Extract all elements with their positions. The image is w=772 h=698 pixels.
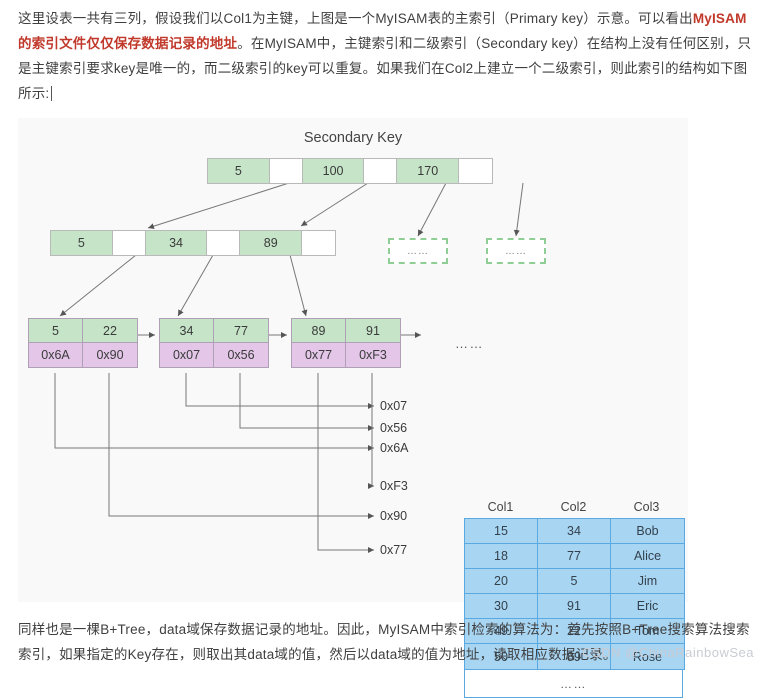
btree-leaf-node: 89 91 0x77 0xF3 <box>291 318 401 368</box>
leaf-data-row: 0x77 0xF3 <box>292 343 400 367</box>
paragraph-segment-1: 这里设表一共有三列，假设我们以Col1为主键，上图是一个MyISAM表的主索引（… <box>18 11 693 26</box>
btree-leaf-node: 5 22 0x6A 0x90 <box>28 318 138 368</box>
root-pointer-cell <box>270 159 303 183</box>
table-header-row: Col1 Col2 Col3 <box>464 500 685 514</box>
table-cell: 15 <box>465 519 538 544</box>
table-footer-ellipsis: …… <box>464 670 683 698</box>
btree-internal-node: 5 34 89 <box>50 230 336 256</box>
leaf-key-row: 34 77 <box>160 319 268 343</box>
btree-root-node: 5 100 170 <box>207 158 493 184</box>
placeholder-node-box: …… <box>486 238 546 264</box>
leaf-key-row: 89 91 <box>292 319 400 343</box>
address-label: 0x90 <box>380 509 407 523</box>
watermark-text: CSDN @ChinaRainbowSea <box>582 645 754 660</box>
internal-key-cell: 34 <box>146 231 208 255</box>
table-column-header: Col1 <box>464 500 537 514</box>
table-column-header: Col2 <box>537 500 610 514</box>
leaf-data-row: 0x07 0x56 <box>160 343 268 367</box>
root-key-cell: 5 <box>208 159 270 183</box>
leaf-data-row: 0x6A 0x90 <box>29 343 137 367</box>
root-key-cell: 170 <box>397 159 459 183</box>
leaf-key-row: 5 22 <box>29 319 137 343</box>
intro-paragraph: 这里设表一共有三列，假设我们以Col1为主键，上图是一个MyISAM表的主索引（… <box>18 6 754 106</box>
leaf-address-cell: 0x56 <box>214 343 268 367</box>
table-row: 30 91 Eric <box>465 594 684 619</box>
table-cell: Eric <box>611 594 684 619</box>
internal-pointer-cell <box>207 231 240 255</box>
leaf-key-cell: 77 <box>214 319 268 343</box>
table-row: 15 34 Bob <box>465 519 684 544</box>
address-label: 0x6A <box>380 441 409 455</box>
table-column-header: Col3 <box>610 500 683 514</box>
address-label: 0x77 <box>380 543 407 557</box>
table-cell: 91 <box>538 594 611 619</box>
internal-pointer-cell <box>302 231 335 255</box>
table-cell: 30 <box>465 594 538 619</box>
table-cell: Bob <box>611 519 684 544</box>
table-cell: 77 <box>538 544 611 569</box>
table-cell: Jim <box>611 569 684 594</box>
table-cell: 34 <box>538 519 611 544</box>
internal-key-cell: 5 <box>51 231 113 255</box>
placeholder-node-box: …… <box>388 238 448 264</box>
data-records-table: Col1 Col2 Col3 15 34 Bob 18 77 Alice 20 … <box>464 500 685 698</box>
leaf-address-cell: 0xF3 <box>346 343 400 367</box>
leaf-address-cell: 0x6A <box>29 343 83 367</box>
table-cell: 5 <box>538 569 611 594</box>
address-label: 0x07 <box>380 399 407 413</box>
root-pointer-cell <box>459 159 492 183</box>
text-cursor <box>51 86 52 101</box>
table-cell: Alice <box>611 544 684 569</box>
leaf-address-cell: 0x90 <box>83 343 137 367</box>
table-cell: 18 <box>465 544 538 569</box>
diagram-title: Secondary Key <box>18 130 688 146</box>
address-label: 0x56 <box>380 421 407 435</box>
root-pointer-cell <box>364 159 397 183</box>
table-row: 20 5 Jim <box>465 569 684 594</box>
internal-pointer-cell <box>113 231 146 255</box>
address-label: 0xF3 <box>380 479 408 493</box>
table-row: 18 77 Alice <box>465 544 684 569</box>
leaf-key-cell: 34 <box>160 319 214 343</box>
leaf-key-cell: 5 <box>29 319 83 343</box>
btree-leaf-node: 34 77 0x07 0x56 <box>159 318 269 368</box>
leaf-key-cell: 91 <box>346 319 400 343</box>
leaf-key-cell: 89 <box>292 319 346 343</box>
leaf-address-cell: 0x77 <box>292 343 346 367</box>
leaf-address-cell: 0x07 <box>160 343 214 367</box>
table-cell: 20 <box>465 569 538 594</box>
internal-key-cell: 89 <box>240 231 302 255</box>
root-key-cell: 100 <box>303 159 365 183</box>
leaf-key-cell: 22 <box>83 319 137 343</box>
secondary-key-diagram: Secondary Key <box>18 118 688 602</box>
records-ellipsis: …… <box>455 336 484 351</box>
